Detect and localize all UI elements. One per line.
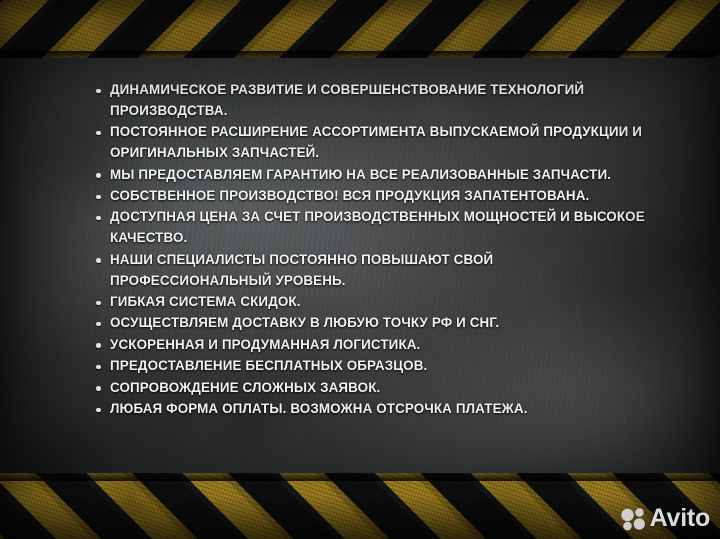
benefits-content: ДИНАМИЧЕСКОЕ РАЗВИТИЕ И СОВЕРШЕНСТВОВАНИ… bbox=[96, 80, 656, 421]
list-item: МЫ ПРЕДОСТАВЛЯЕМ ГАРАНТИЮ НА ВСЕ РЕАЛИЗО… bbox=[96, 165, 656, 186]
list-item: ОСУЩЕСТВЛЯЕМ ДОСТАВКУ В ЛЮБУЮ ТОЧКУ РФ И… bbox=[96, 313, 656, 334]
hazard-shading-bottom bbox=[0, 473, 720, 539]
hazard-edge-shadow-top bbox=[0, 51, 720, 58]
list-item: НАШИ СПЕЦИАЛИСТЫ ПОСТОЯННО ПОВЫШАЮТ СВОЙ… bbox=[96, 250, 656, 292]
avito-dots-icon bbox=[620, 507, 646, 531]
list-item: ЛЮБАЯ ФОРМА ОПЛАТЫ. ВОЗМОЖНА ОТСРОЧКА ПЛ… bbox=[96, 399, 656, 420]
avito-wordmark: Avito bbox=[650, 506, 710, 531]
hazard-stripe-band-top bbox=[0, 0, 720, 58]
hazard-edge-shadow-bottom bbox=[0, 473, 720, 481]
list-item: УСКОРЕННАЯ И ПРОДУМАННАЯ ЛОГИСТИКА. bbox=[96, 335, 656, 356]
hazard-stripe-band-bottom bbox=[0, 473, 720, 539]
list-item: СОБСТВЕННОЕ ПРОИЗВОДСТВО! ВСЯ ПРОДУКЦИЯ … bbox=[96, 186, 656, 207]
list-item: СОПРОВОЖДЕНИЕ СЛОЖНЫХ ЗАЯВОК. bbox=[96, 378, 656, 399]
benefits-list: ДИНАМИЧЕСКОЕ РАЗВИТИЕ И СОВЕРШЕНСТВОВАНИ… bbox=[96, 80, 656, 420]
list-item: ГИБКАЯ СИСТЕМА СКИДОК. bbox=[96, 292, 656, 313]
list-item: ДИНАМИЧЕСКОЕ РАЗВИТИЕ И СОВЕРШЕНСТВОВАНИ… bbox=[96, 80, 656, 122]
hazard-benefits-poster: ДИНАМИЧЕСКОЕ РАЗВИТИЕ И СОВЕРШЕНСТВОВАНИ… bbox=[0, 0, 720, 539]
hazard-shading-top bbox=[0, 0, 720, 58]
avito-watermark: Avito bbox=[620, 506, 710, 531]
list-item: ПРЕДОСТАВЛЕНИЕ БЕСПЛАТНЫХ ОБРАЗЦОВ. bbox=[96, 356, 656, 377]
list-item: ДОСТУПНАЯ ЦЕНА ЗА СЧЕТ ПРОИЗВОДСТВЕННЫХ … bbox=[96, 207, 656, 249]
list-item: ПОСТОЯННОЕ РАСШИРЕНИЕ АССОРТИМЕНТА ВЫПУС… bbox=[96, 122, 656, 164]
